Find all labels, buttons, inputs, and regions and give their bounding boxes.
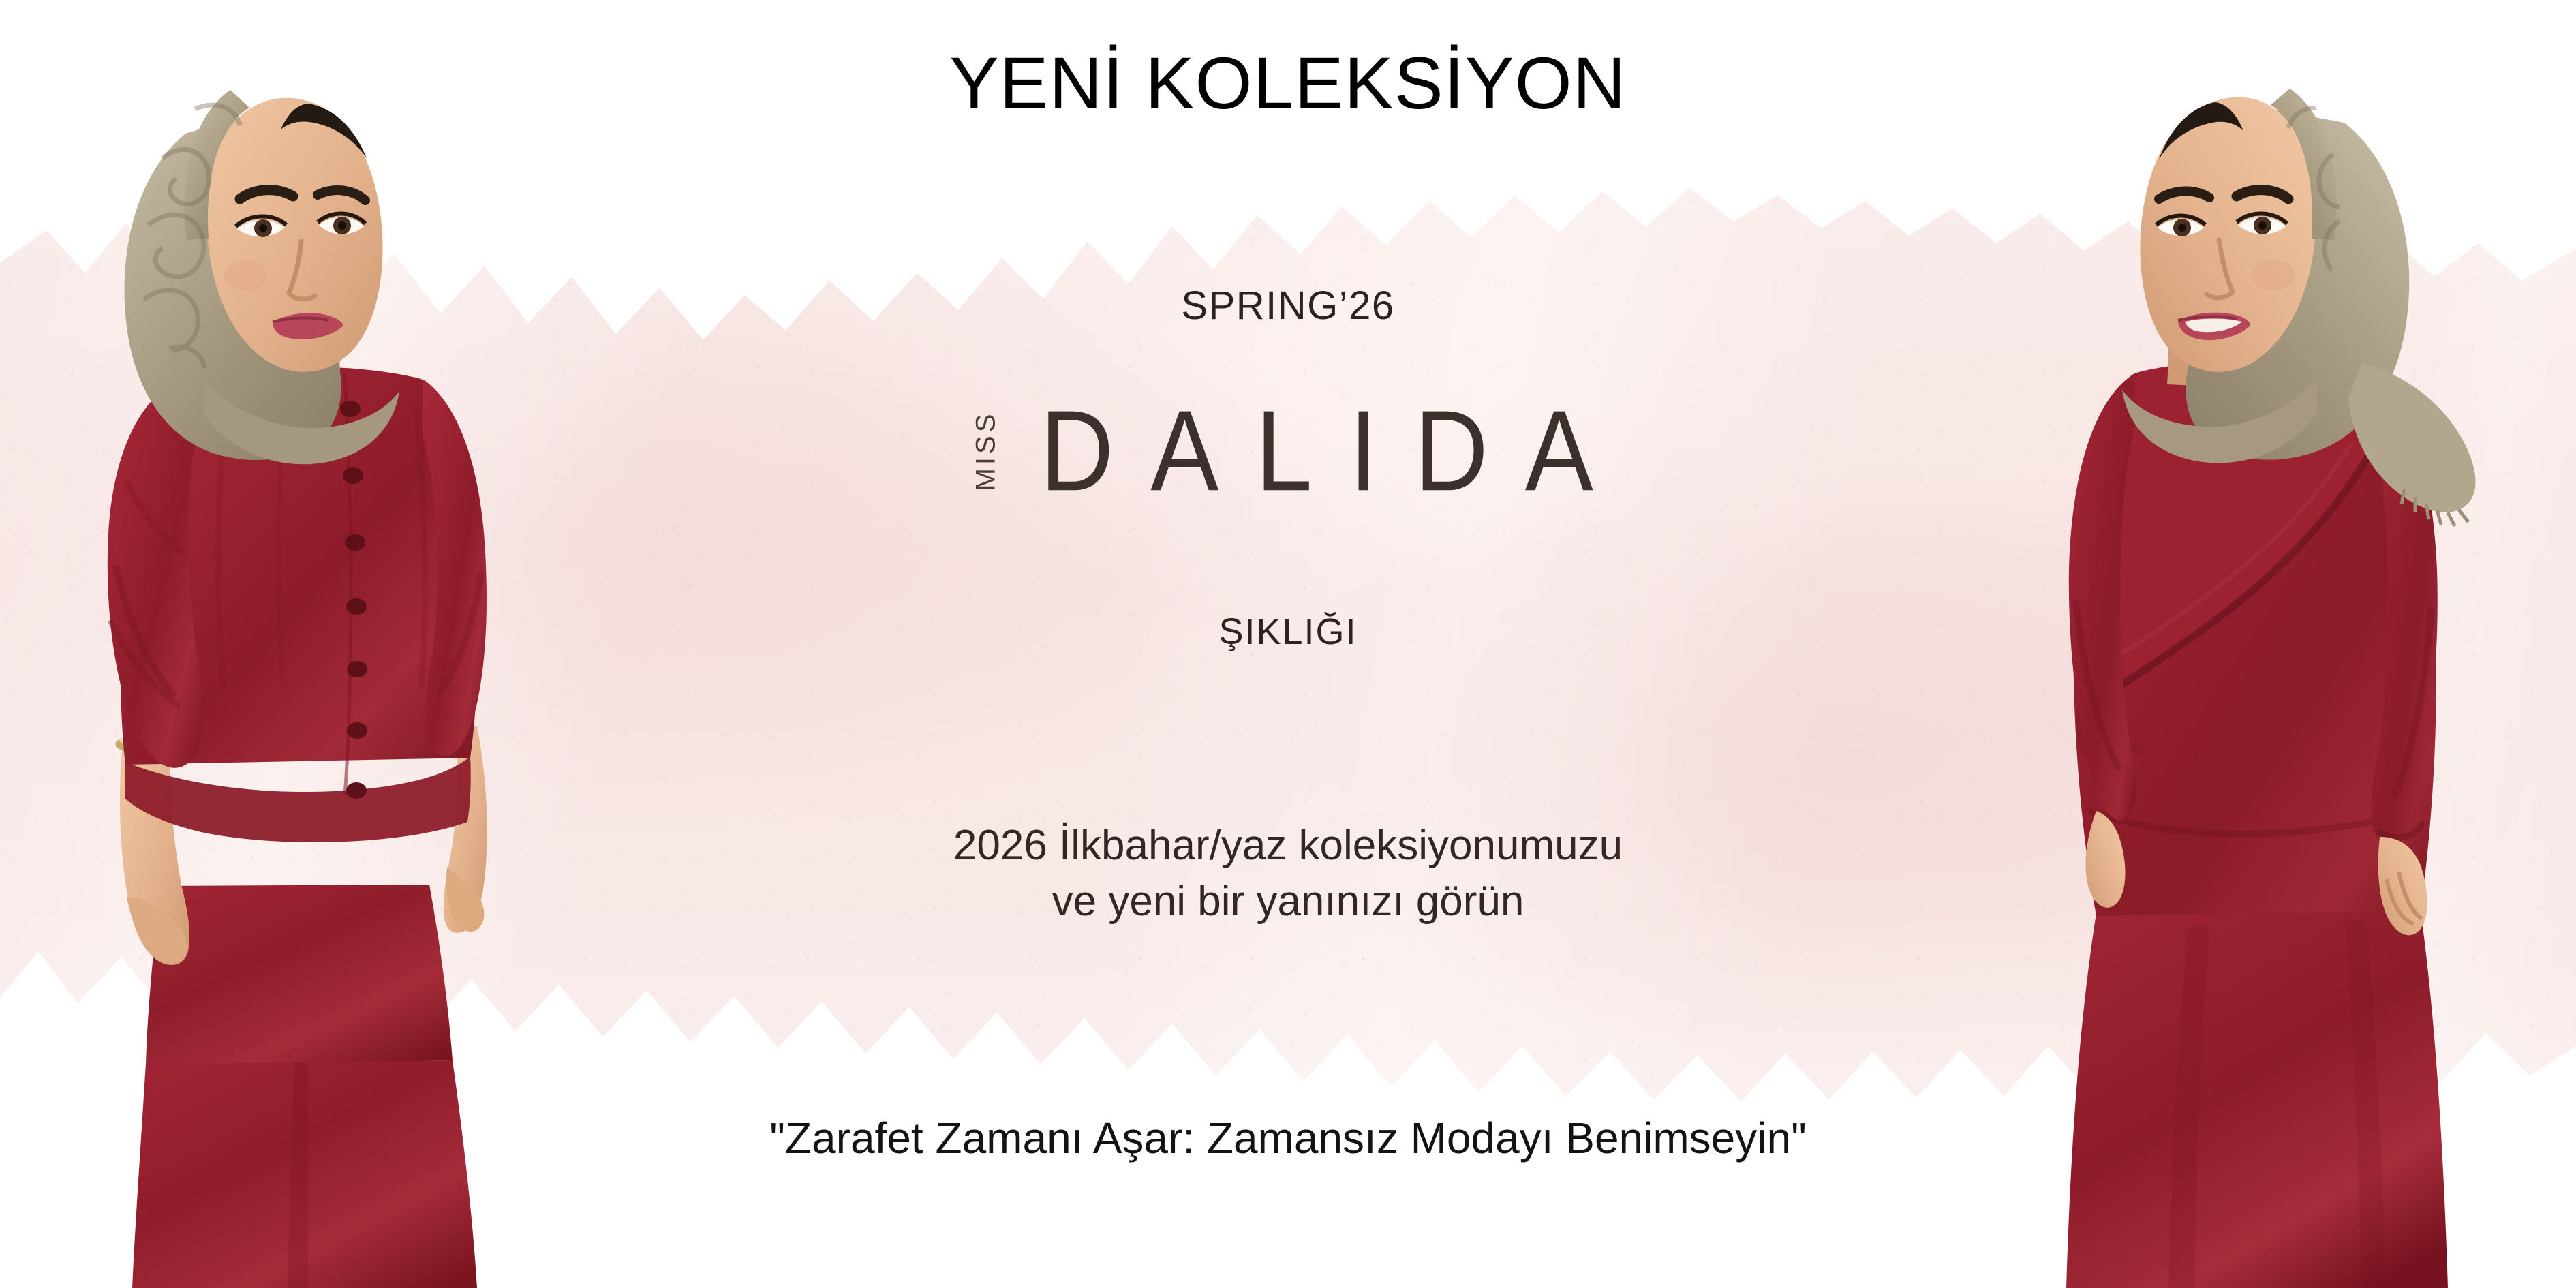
promo-banner: YENİ KOLEKSİYON SPRING’26 MISS DALIDA ŞI… xyxy=(0,0,2576,1288)
page-title: YENİ KOLEKSİYON xyxy=(0,46,2576,120)
body-copy-line-1: 2026 İlkbahar/yaz koleksiyonumuzu xyxy=(0,818,2576,874)
body-copy: 2026 İlkbahar/yaz koleksiyonumuzu ve yen… xyxy=(0,818,2576,930)
brand-prefix: MISS xyxy=(971,410,1002,491)
body-copy-line-2: ve yeni bir yanınızı görün xyxy=(0,874,2576,930)
brand-quote: "Zarafet Zamanı Aşar: Zamansız Modayı Be… xyxy=(0,1116,2576,1160)
brand-lockup: MISS DALIDA xyxy=(0,399,2576,502)
text-content: YENİ KOLEKSİYON SPRING’26 MISS DALIDA ŞI… xyxy=(0,0,2576,1288)
tagline-word: ŞIKLIĞI xyxy=(0,613,2576,650)
season-label: SPRING’26 xyxy=(0,286,2576,326)
brand-name: DALIDA xyxy=(1040,393,1630,508)
